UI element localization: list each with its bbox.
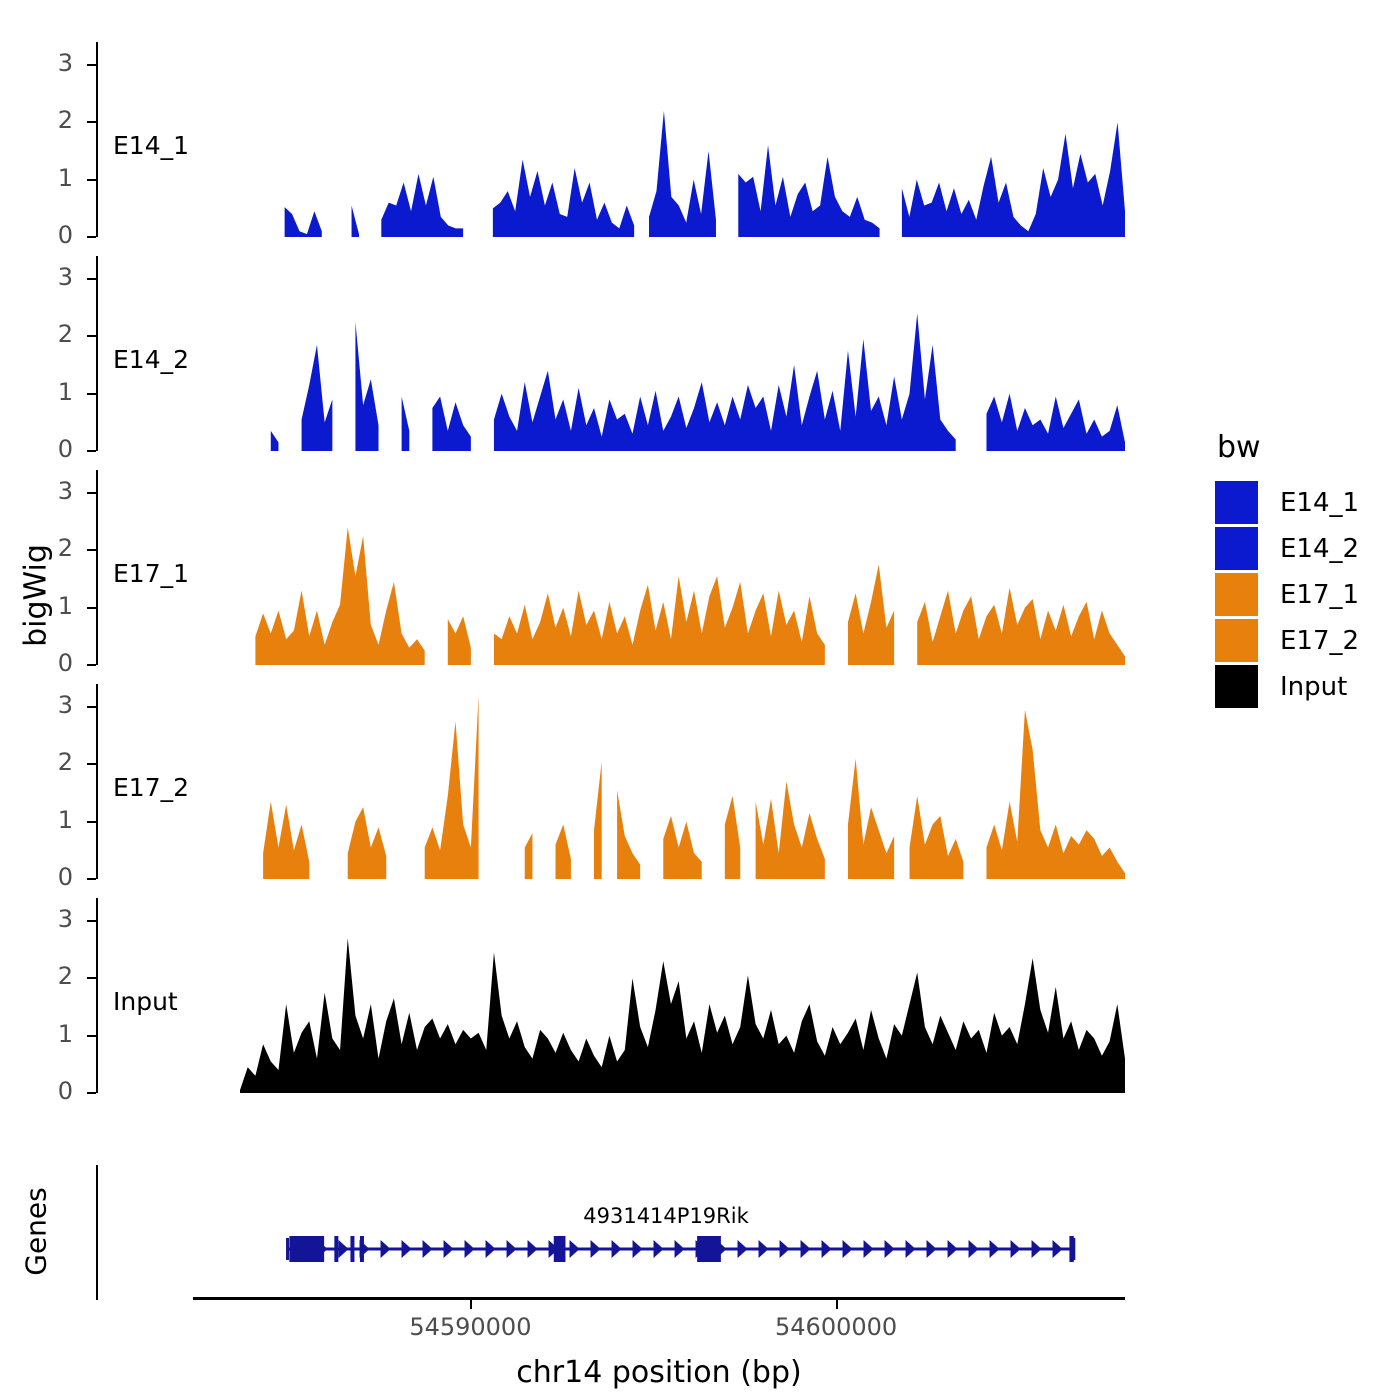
legend-label: Input	[1280, 672, 1347, 702]
legend-swatch	[1215, 665, 1258, 708]
legend-swatch	[1215, 619, 1258, 662]
legend-item-e14_2[interactable]: E14_2	[1215, 527, 1359, 570]
legend-label: E14_1	[1280, 488, 1359, 518]
legend-label: E14_2	[1280, 534, 1359, 564]
legend-label: E17_1	[1280, 580, 1359, 610]
x-tick-group: 5459000054600000	[0, 0, 1400, 120]
legend-items: E14_1E14_2E17_1E17_2Input	[1215, 481, 1359, 708]
legend-title: bw	[1217, 430, 1359, 465]
plot-root: bigWig Genes chr14 position (bp) 0123E14…	[0, 0, 1400, 1400]
legend-swatch	[1215, 573, 1258, 616]
x-tick-mark	[836, 1300, 838, 1309]
legend-label: E17_2	[1280, 626, 1359, 656]
legend-item-input[interactable]: Input	[1215, 665, 1359, 708]
x-tick-label: 54600000	[726, 1313, 946, 1341]
legend-swatch	[1215, 527, 1258, 570]
x-tick-label: 54590000	[360, 1313, 580, 1341]
x-axis: 5459000054600000	[0, 0, 1400, 1400]
legend: bw E14_1E14_2E17_1E17_2Input	[1215, 430, 1359, 711]
legend-item-e17_2[interactable]: E17_2	[1215, 619, 1359, 662]
legend-item-e17_1[interactable]: E17_1	[1215, 573, 1359, 616]
x-axis-line	[193, 1297, 1125, 1300]
x-tick-mark	[470, 1300, 472, 1309]
legend-swatch	[1215, 481, 1258, 524]
legend-item-e14_1[interactable]: E14_1	[1215, 481, 1359, 524]
